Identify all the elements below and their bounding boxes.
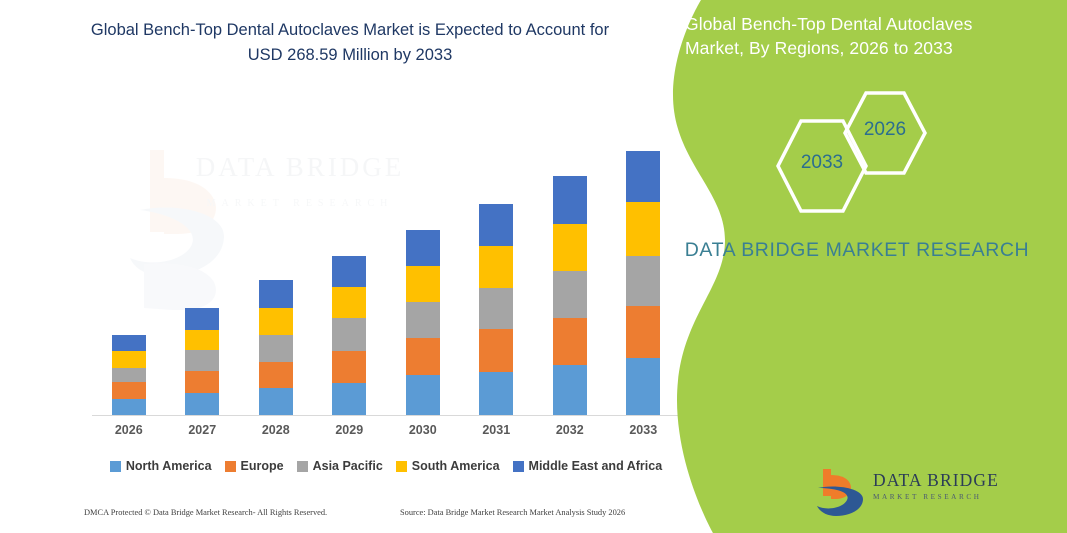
bar-column bbox=[406, 230, 440, 415]
bar-segment bbox=[112, 351, 146, 368]
brand-logo: DATA BRIDGE MARKET RESEARCH bbox=[813, 462, 1013, 524]
bar-segment bbox=[626, 151, 660, 202]
x-axis-tick-label: 2027 bbox=[172, 423, 232, 443]
bar-segment bbox=[553, 176, 587, 224]
bar-segment bbox=[332, 351, 366, 383]
bar-segment bbox=[479, 204, 513, 246]
bar-segment bbox=[406, 302, 440, 338]
footer: DMCA Protected © Data Bridge Market Rese… bbox=[0, 508, 700, 524]
panel-title: Global Bench-Top Dental Autoclaves Marke… bbox=[685, 12, 1015, 60]
bar-segment bbox=[185, 308, 219, 330]
bar-segment bbox=[112, 335, 146, 351]
bar-segment bbox=[259, 388, 293, 415]
brand-text: DATA BRIDGE MARKET RESEARCH bbox=[667, 236, 1067, 264]
page-title: Global Bench-Top Dental Autoclaves Marke… bbox=[75, 18, 625, 68]
legend-swatch-icon bbox=[110, 461, 121, 472]
x-axis-tick-label: 2030 bbox=[393, 423, 453, 443]
bar-column bbox=[332, 256, 366, 415]
x-axis-labels: 20262027202820292030203120322033 bbox=[92, 423, 680, 443]
bar-segment bbox=[479, 329, 513, 372]
bar-segment bbox=[626, 202, 660, 256]
bar-segment bbox=[553, 318, 587, 365]
bar-column bbox=[112, 335, 146, 415]
logo-subtitle: MARKET RESEARCH bbox=[873, 493, 1013, 501]
bar-segment bbox=[626, 256, 660, 306]
legend-label: Europe bbox=[241, 459, 284, 473]
bar-segment bbox=[185, 393, 219, 415]
chart-legend: North AmericaEuropeAsia PacificSouth Ame… bbox=[92, 456, 680, 476]
legend-label: North America bbox=[126, 459, 212, 473]
legend-item[interactable]: North America bbox=[110, 459, 212, 473]
bar-segment bbox=[626, 358, 660, 415]
hex-badge-2033: 2033 bbox=[772, 116, 872, 216]
bar-column bbox=[185, 308, 219, 415]
bar-segment bbox=[259, 308, 293, 335]
bar-segment bbox=[553, 365, 587, 415]
x-axis-tick-label: 2033 bbox=[613, 423, 673, 443]
x-axis-tick-label: 2029 bbox=[319, 423, 379, 443]
infographic-root: Global Bench-Top Dental Autoclaves Marke… bbox=[0, 0, 1067, 533]
legend-item[interactable]: South America bbox=[396, 459, 500, 473]
bar-segment bbox=[259, 335, 293, 362]
legend-swatch-icon bbox=[396, 461, 407, 472]
bar-column bbox=[553, 176, 587, 415]
bar-segment bbox=[479, 372, 513, 415]
bar-column bbox=[479, 204, 513, 415]
legend-item[interactable]: Asia Pacific bbox=[297, 459, 383, 473]
hex-badges: 2026 2033 bbox=[747, 88, 977, 208]
footer-source: Source: Data Bridge Market Research Mark… bbox=[400, 508, 625, 517]
bar-column bbox=[259, 280, 293, 415]
bar-segment bbox=[406, 230, 440, 266]
bar-segment bbox=[259, 362, 293, 388]
bar-segment bbox=[626, 306, 660, 358]
bar-segment bbox=[332, 318, 366, 351]
data-bridge-logo-icon bbox=[813, 466, 869, 518]
legend-label: Asia Pacific bbox=[313, 459, 383, 473]
bar-segment bbox=[185, 350, 219, 371]
bar-segment bbox=[112, 399, 146, 415]
bar-segment bbox=[406, 375, 440, 415]
legend-swatch-icon bbox=[513, 461, 524, 472]
legend-swatch-icon bbox=[225, 461, 236, 472]
x-axis-tick-label: 2026 bbox=[99, 423, 159, 443]
x-axis-tick-label: 2028 bbox=[246, 423, 306, 443]
bar-segment bbox=[332, 383, 366, 415]
stacked-bars bbox=[92, 120, 680, 415]
legend-item[interactable]: Middle East and Africa bbox=[513, 459, 663, 473]
bar-segment bbox=[406, 338, 440, 375]
legend-item[interactable]: Europe bbox=[225, 459, 284, 473]
legend-swatch-icon bbox=[297, 461, 308, 472]
bar-segment bbox=[332, 287, 366, 318]
bar-segment bbox=[553, 224, 587, 271]
bar-segment bbox=[259, 280, 293, 308]
x-axis-tick-label: 2031 bbox=[466, 423, 526, 443]
bar-segment bbox=[185, 371, 219, 393]
bar-segment bbox=[112, 368, 146, 382]
x-axis-baseline bbox=[92, 415, 680, 416]
right-green-panel: Global Bench-Top Dental Autoclaves Marke… bbox=[667, 0, 1067, 533]
legend-label: South America bbox=[412, 459, 500, 473]
bar-column bbox=[626, 151, 660, 415]
bar-segment bbox=[479, 246, 513, 288]
bar-segment bbox=[479, 288, 513, 329]
hex-badge-2033-label: 2033 bbox=[772, 152, 872, 174]
bar-segment bbox=[112, 382, 146, 399]
x-axis-tick-label: 2032 bbox=[540, 423, 600, 443]
bar-segment bbox=[332, 256, 366, 287]
bar-segment bbox=[553, 271, 587, 318]
legend-label: Middle East and Africa bbox=[529, 459, 663, 473]
logo-title: DATA BRIDGE bbox=[873, 470, 1013, 491]
bar-segment bbox=[185, 330, 219, 350]
chart-panel: Global Bench-Top Dental Autoclaves Marke… bbox=[0, 0, 700, 533]
footer-copyright: DMCA Protected © Data Bridge Market Rese… bbox=[84, 508, 327, 517]
bar-segment bbox=[406, 266, 440, 302]
